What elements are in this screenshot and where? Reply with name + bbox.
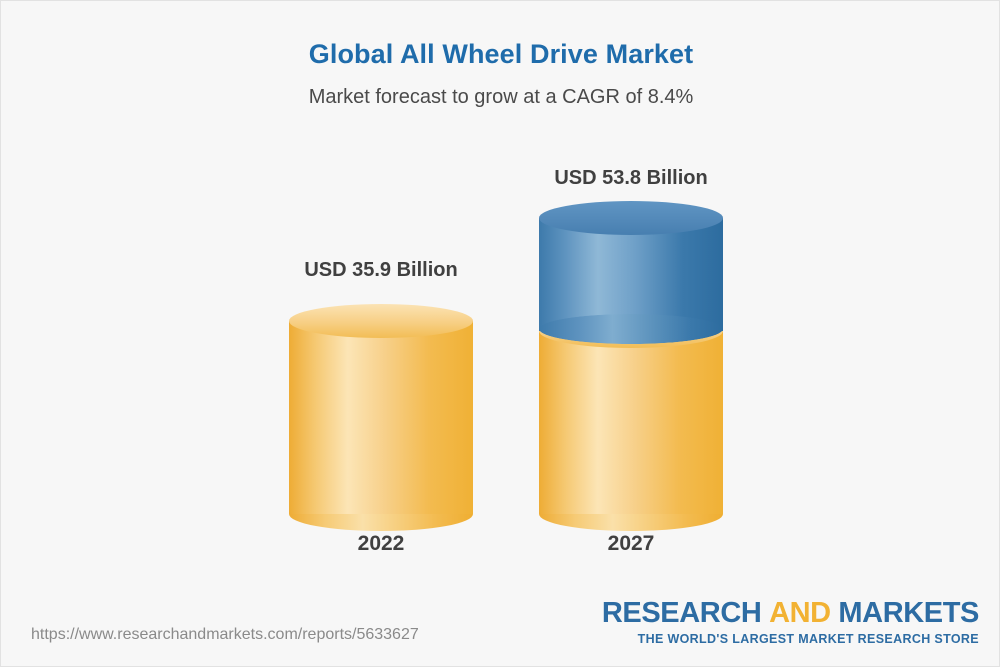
cylinder-2022-top-cap	[289, 304, 473, 338]
chart-footer: https://www.researchandmarkets.com/repor…	[1, 586, 1000, 666]
brand-word-research: RESEARCH	[602, 597, 762, 629]
value-label-2027: USD 53.8 Billion	[539, 167, 723, 190]
cylinder-2027-growth-top-cap	[539, 201, 723, 235]
cylinder-2027-growth-bottom-cap	[539, 314, 723, 344]
chart-plot-area: USD 35.9 Billion USD 53.8 Billion 2022 2…	[1, 1, 1000, 667]
cylinder-2027-base-body[interactable]	[539, 331, 723, 514]
category-label-2027: 2027	[539, 532, 723, 556]
brand-word-markets: MARKETS	[838, 597, 979, 629]
brand-name: RESEARCH AND MARKETS	[602, 599, 979, 629]
cylinder-2022-body[interactable]	[289, 321, 473, 514]
infographic-canvas: Global All Wheel Drive Market Market for…	[0, 0, 1000, 667]
brand-tagline: THE WORLD'S LARGEST MARKET RESEARCH STOR…	[602, 629, 979, 646]
brand-word-and: AND	[769, 597, 831, 629]
source-url-link[interactable]: https://www.researchandmarkets.com/repor…	[31, 626, 419, 644]
brand-logo: RESEARCH AND MARKETS THE WORLD'S LARGEST…	[602, 599, 979, 646]
category-label-2022: 2022	[289, 532, 473, 556]
value-label-2022: USD 35.9 Billion	[289, 259, 473, 282]
